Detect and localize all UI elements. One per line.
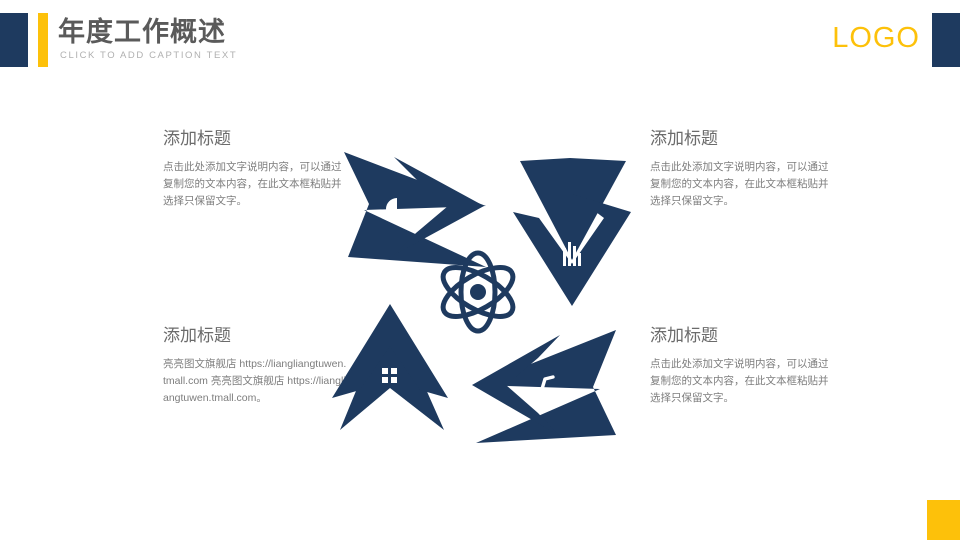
header-left-navy-block <box>0 13 28 67</box>
page-caption: CLICK TO ADD CAPTION TEXT <box>60 50 237 61</box>
text-block-body: 点击此处添加文字说明内容，可以通过复制您的文本内容，在此文本框粘贴并选择只保留文… <box>650 356 830 407</box>
text-block-title: 添加标题 <box>650 128 830 150</box>
text-block-title: 添加标题 <box>163 128 343 150</box>
text-block-top-right: 添加标题 点击此处添加文字说明内容，可以通过复制您的文本内容，在此文本框粘贴并选… <box>650 128 830 210</box>
header-right-navy-block <box>932 13 960 67</box>
arrow-up[interactable] <box>332 304 448 430</box>
header-yellow-bar <box>38 13 48 67</box>
text-block-body: 点击此处添加文字说明内容，可以通过复制您的文本内容，在此文本框粘贴并选择只保留文… <box>650 159 830 210</box>
text-block-title: 添加标题 <box>650 325 830 347</box>
page-title: 年度工作概述 <box>58 17 226 48</box>
arrow-down[interactable] <box>513 158 631 306</box>
arrow-left[interactable] <box>472 330 616 443</box>
slide-canvas: 年度工作概述 CLICK TO ADD CAPTION TEXT LOGO 添加… <box>0 0 960 540</box>
text-block-bottom-right: 添加标题 点击此处添加文字说明内容，可以通过复制您的文本内容，在此文本框粘贴并选… <box>650 325 830 407</box>
footer-yellow-square <box>927 500 960 540</box>
text-block-body: 点击此处添加文字说明内容，可以通过复制您的文本内容，在此文本框粘贴并选择只保留文… <box>163 159 343 210</box>
arrow-right[interactable] <box>342 152 486 267</box>
logo-text: LOGO <box>832 22 920 55</box>
text-block-top-left: 添加标题 点击此处添加文字说明内容，可以通过复制您的文本内容，在此文本框粘贴并选… <box>163 128 343 210</box>
four-arrow-diagram <box>320 140 640 445</box>
